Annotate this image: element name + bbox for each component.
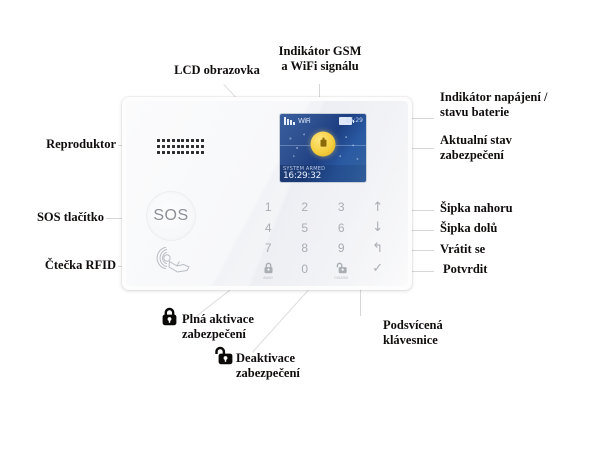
callout-label-disarm: Deaktivace zabezpečení — [236, 351, 376, 381]
alarm-panel: WiFi 16:29 SYSTEM ARMED 16:29:32 SOS 123… — [122, 97, 412, 290]
callout-label-backlight: Podsvícená klávesnice — [383, 318, 533, 348]
key-9[interactable]: 9 — [323, 238, 360, 259]
key-4-label: 4 — [265, 221, 272, 235]
key-0-label: 0 — [301, 262, 308, 276]
key-arrow-up-label: ↑ — [372, 200, 383, 215]
callout-label-arrow-down: Šipka dolů — [440, 221, 596, 236]
key-7[interactable]: 7 — [250, 238, 287, 259]
padlock-open-icon — [214, 346, 233, 365]
key-6-label: 6 — [338, 221, 345, 235]
callout-label-sos: SOS tlačítko — [6, 210, 104, 225]
key-8[interactable]: 8 — [287, 238, 324, 259]
key-8-label: 8 — [301, 241, 308, 255]
key-4[interactable]: 4 — [250, 218, 287, 239]
callout-label-gsm-wifi: Indikátor GSM a WiFi signálu — [256, 44, 384, 74]
callout-label-confirm: Potvrdit — [443, 262, 599, 277]
keypad[interactable]: 123↑456↓789↰AWAY0DISARM✓ — [250, 197, 396, 279]
key-2-label: 2 — [301, 200, 308, 214]
lcd-top-time: 16:29 — [346, 117, 363, 124]
key-7-label: 7 — [265, 241, 272, 255]
key-5-label: 5 — [301, 221, 308, 235]
wifi-icon-label: WiFi — [298, 117, 310, 125]
key-3-label: 3 — [338, 200, 345, 214]
key-5[interactable]: 5 — [287, 218, 324, 239]
key-3[interactable]: 3 — [323, 197, 360, 218]
key-6[interactable]: 6 — [323, 218, 360, 239]
key-arrow-up[interactable]: ↑ — [360, 197, 397, 218]
padlock-closed-icon — [160, 307, 179, 326]
speaker-grille-icon — [157, 138, 204, 155]
key-back-label: ↰ — [372, 241, 383, 256]
key-arrow-down[interactable]: ↓ — [360, 218, 397, 239]
key-arm-sublabel: AWAY — [250, 276, 287, 280]
key-disarm-sublabel: DISARM — [323, 276, 360, 280]
callout-label-power-battery: Indikátor napájení / stavu baterie — [440, 90, 596, 120]
key-1-label: 1 — [265, 200, 272, 214]
key-9-label: 9 — [338, 241, 345, 255]
sos-button-label: SOS — [153, 207, 188, 225]
callout-label-speaker: Reproduktor — [6, 137, 116, 152]
key-back[interactable]: ↰ — [360, 238, 397, 259]
lcd-clock-text: 16:29:32 — [283, 171, 321, 181]
callout-label-back: Vrátit se — [440, 242, 596, 257]
gsm-signal-icon — [284, 117, 295, 125]
key-1[interactable]: 1 — [250, 197, 287, 218]
callout-label-arm-full: Plná aktivace zabezpečení — [182, 312, 322, 342]
lock-armed-icon — [311, 131, 336, 156]
key-arm[interactable]: AWAY — [250, 259, 287, 280]
callout-label-rfid: Čtečka RFID — [6, 258, 116, 273]
key-disarm[interactable]: DISARM — [323, 259, 360, 280]
key-confirm[interactable]: ✓ — [360, 259, 397, 280]
rfid-hand-card-icon[interactable] — [152, 247, 196, 273]
key-0[interactable]: 0 — [287, 259, 324, 280]
leader-line-backlight — [360, 290, 361, 316]
key-arrow-down-label: ↓ — [372, 220, 383, 235]
lcd-screen: WiFi 16:29 SYSTEM ARMED 16:29:32 — [280, 114, 366, 182]
key-confirm-label: ✓ — [372, 261, 383, 276]
callout-label-security-state: Aktualní stav zabezpečení — [440, 133, 596, 163]
callout-label-arrow-up: Šipka nahoru — [440, 201, 596, 216]
key-2[interactable]: 2 — [287, 197, 324, 218]
sos-button[interactable]: SOS — [147, 192, 195, 240]
